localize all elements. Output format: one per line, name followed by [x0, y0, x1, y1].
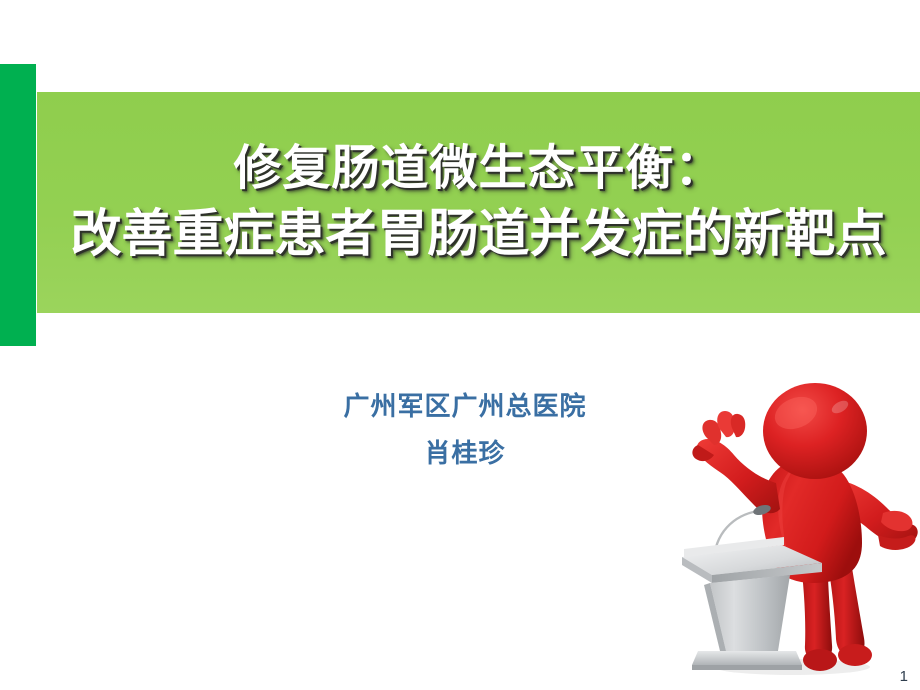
title-accent-bar [0, 64, 36, 346]
figure-head [763, 383, 867, 479]
speaker-illustration [672, 383, 920, 678]
subtitle-presenter-name: 肖桂珍 [180, 430, 750, 477]
title-line-1: 修复肠道微生态平衡： [233, 138, 723, 200]
slide-subtitle: 广州军区广州总医院 肖桂珍 [180, 383, 750, 478]
title-line-2: 改善重症患者胃肠道并发症的新靶点 [70, 201, 886, 267]
subtitle-organization: 广州军区广州总医院 [180, 383, 750, 430]
podium [682, 537, 822, 670]
slide-canvas: 修复肠道微生态平衡： 改善重症患者胃肠道并发症的新靶点 广州军区广州总医院 肖桂… [0, 0, 920, 690]
slide-title: 修复肠道微生态平衡： 改善重症患者胃肠道并发症的新靶点 [37, 92, 920, 313]
